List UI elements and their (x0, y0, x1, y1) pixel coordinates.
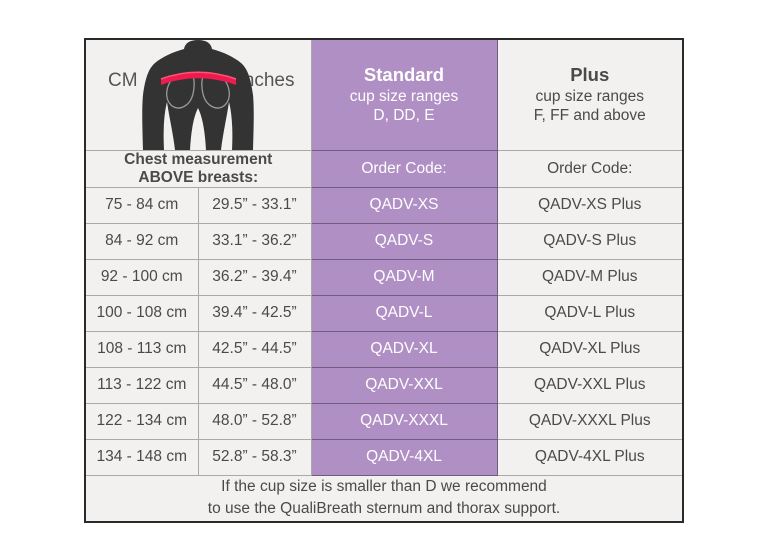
row-standard-code: QADV-L (311, 295, 497, 331)
plus-subtitle: cup size ranges (498, 88, 683, 107)
torso-measurement-icon (140, 38, 256, 150)
size-chart-table: CM Inches (84, 38, 684, 523)
row-plus-code: QADV-XXXL Plus (497, 403, 683, 439)
row-inches: 42.5” - 44.5” (198, 331, 311, 367)
footer-recommendation-note: If the cup size is smaller than D we rec… (85, 475, 683, 521)
row-plus-code: QADV-XXL Plus (497, 367, 683, 403)
plus-cup-sizes: F, FF and above (498, 107, 683, 126)
row-plus-code: QADV-S Plus (497, 223, 683, 259)
measurement-illustration-cell: CM Inches (85, 39, 311, 151)
footer-note-line1: If the cup size is smaller than D we rec… (86, 476, 682, 498)
row-inches: 36.2” - 39.4” (198, 259, 311, 295)
plus-order-code-label: Order Code: (497, 151, 683, 188)
row-plus-code: QADV-M Plus (497, 259, 683, 295)
chest-note-line1: Chest measurement (86, 151, 311, 169)
standard-order-code-label: Order Code: (311, 151, 497, 188)
plus-column-header: Plus cup size ranges F, FF and above (497, 39, 683, 151)
row-cm: 134 - 148 cm (85, 439, 198, 475)
table-row: 100 - 108 cm 39.4” - 42.5” QADV-L QADV-L… (85, 295, 683, 331)
plus-title: Plus (498, 64, 683, 87)
row-cm: 84 - 92 cm (85, 223, 198, 259)
row-cm: 122 - 134 cm (85, 403, 198, 439)
row-cm: 100 - 108 cm (85, 295, 198, 331)
table-subheader-row: Chest measurement ABOVE breasts: Order C… (85, 151, 683, 188)
row-plus-code: QADV-4XL Plus (497, 439, 683, 475)
row-standard-code: QADV-XS (311, 187, 497, 223)
table-row: 108 - 113 cm 42.5” - 44.5” QADV-XL QADV-… (85, 331, 683, 367)
row-inches: 29.5” - 33.1” (198, 187, 311, 223)
table-row: 122 - 134 cm 48.0” - 52.8” QADV-XXXL QAD… (85, 403, 683, 439)
table-row: 92 - 100 cm 36.2” - 39.4” QADV-M QADV-M … (85, 259, 683, 295)
row-inches: 44.5” - 48.0” (198, 367, 311, 403)
row-inches: 33.1” - 36.2” (198, 223, 311, 259)
row-plus-code: QADV-XL Plus (497, 331, 683, 367)
table-row: 134 - 148 cm 52.8” - 58.3” QADV-4XL QADV… (85, 439, 683, 475)
row-inches: 39.4” - 42.5” (198, 295, 311, 331)
standard-subtitle: cup size ranges (312, 88, 497, 107)
table-row: 75 - 84 cm 29.5” - 33.1” QADV-XS QADV-XS… (85, 187, 683, 223)
standard-cup-sizes: D, DD, E (312, 107, 497, 126)
row-standard-code: QADV-M (311, 259, 497, 295)
row-standard-code: QADV-XXL (311, 367, 497, 403)
table-header-row: CM Inches (85, 39, 683, 151)
row-inches: 52.8” - 58.3” (198, 439, 311, 475)
row-standard-code: QADV-S (311, 223, 497, 259)
chest-note-line2: ABOVE breasts: (86, 169, 311, 187)
table-row: 84 - 92 cm 33.1” - 36.2” QADV-S QADV-S P… (85, 223, 683, 259)
row-inches: 48.0” - 52.8” (198, 403, 311, 439)
standard-column-header: Standard cup size ranges D, DD, E (311, 39, 497, 151)
table-row: 113 - 122 cm 44.5” - 48.0” QADV-XXL QADV… (85, 367, 683, 403)
row-cm: 108 - 113 cm (85, 331, 198, 367)
cm-column-label: CM (108, 70, 138, 92)
row-standard-code: QADV-4XL (311, 439, 497, 475)
row-cm: 75 - 84 cm (85, 187, 198, 223)
row-cm: 92 - 100 cm (85, 259, 198, 295)
row-standard-code: QADV-XL (311, 331, 497, 367)
row-standard-code: QADV-XXXL (311, 403, 497, 439)
row-plus-code: QADV-XS Plus (497, 187, 683, 223)
sizing-chart-page: CM Inches (0, 0, 766, 536)
row-plus-code: QADV-L Plus (497, 295, 683, 331)
table-footer-row: If the cup size is smaller than D we rec… (85, 475, 683, 521)
chest-measurement-note: Chest measurement ABOVE breasts: (85, 151, 311, 188)
standard-title: Standard (312, 64, 497, 87)
footer-note-line2: to use the QualiBreath sternum and thora… (86, 498, 682, 520)
row-cm: 113 - 122 cm (85, 367, 198, 403)
